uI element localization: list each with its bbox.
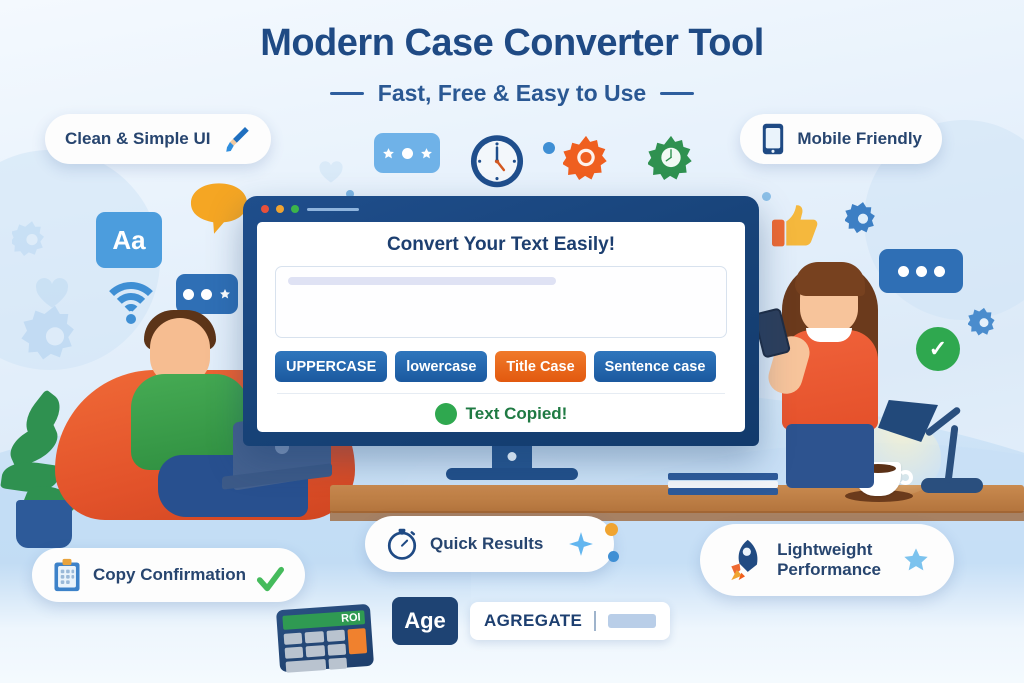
- bubble-dot: [898, 266, 909, 277]
- close-icon[interactable]: [261, 205, 269, 213]
- agregate-input[interactable]: AGREGATE: [470, 602, 670, 640]
- calculator-key: [328, 658, 347, 670]
- speech-bubble-stars-icon: [374, 133, 440, 173]
- green-gear-clock-icon: [648, 134, 694, 180]
- badge-label: Lightweight Performance: [777, 540, 881, 579]
- bubble-dot: [934, 266, 945, 277]
- calculator-key: [306, 645, 325, 657]
- text-input-area[interactable]: [275, 266, 727, 338]
- calculator-key: [327, 644, 346, 656]
- poster-canvas: Modern Case Converter Tool Fast, Free & …: [0, 0, 1024, 683]
- badge-copy-confirmation[interactable]: Copy Confirmation: [32, 548, 305, 602]
- badge-quick-results[interactable]: Quick Results: [365, 516, 614, 572]
- star-icon: [902, 546, 930, 574]
- bubble-dot: [402, 148, 413, 159]
- monitor-power-button[interactable]: [508, 452, 517, 461]
- monitor-stand: [446, 468, 578, 480]
- subtitle-dash-left: [330, 92, 364, 95]
- green-check-icon: ✓: [916, 327, 960, 371]
- thumbs-up-icon: [770, 200, 824, 250]
- woman-fringe: [795, 262, 865, 296]
- badge-label: Mobile Friendly: [797, 129, 922, 149]
- clipboard-icon: [52, 558, 82, 592]
- uppercase-button[interactable]: UPPERCASE: [275, 351, 387, 382]
- blue-gear-icon: [12, 218, 52, 258]
- copy-status-label: Text Copied!: [466, 404, 568, 424]
- wifi-icon: [100, 282, 162, 322]
- page-subtitle-row: Fast, Free & Easy to Use: [0, 80, 1024, 107]
- sparkle-icon: [568, 531, 594, 557]
- chat-dots-icon: [879, 249, 963, 293]
- badge-label: Quick Results: [430, 534, 543, 554]
- calculator-display: ROI: [282, 610, 365, 630]
- heart-icon: [34, 277, 70, 309]
- badge-clean-simple-ui[interactable]: Clean & Simple UI: [45, 114, 271, 164]
- bubble-dot: [201, 289, 212, 300]
- badge-label: Clean & Simple UI: [65, 129, 210, 149]
- badge-label: Copy Confirmation: [93, 565, 246, 585]
- badge-lightweight-performance[interactable]: Lightweight Performance: [700, 524, 954, 596]
- green-check-icon: [255, 566, 285, 594]
- calculator-key: [284, 633, 303, 645]
- blue-gear-icon: [20, 300, 90, 370]
- sparkle-dot-icon: [605, 523, 618, 536]
- alarm-clock-icon: [466, 129, 528, 191]
- plant-pot: [16, 500, 72, 548]
- sparkle-dot-icon: [608, 551, 619, 562]
- subtitle-dash-right: [660, 92, 694, 95]
- aa-text-bubble-icon: Aa: [96, 212, 162, 268]
- chat-dots-star-icon: [176, 274, 238, 314]
- age-chip: Age: [392, 597, 458, 645]
- paintbrush-icon: [221, 124, 251, 154]
- selection-highlight: [608, 614, 656, 628]
- rocket-icon: [724, 538, 766, 582]
- divider: [277, 393, 725, 394]
- orange-gear-icon: [563, 134, 609, 180]
- text-cursor: [594, 611, 595, 631]
- agregate-value: AGREGATE: [484, 611, 582, 631]
- calculator-key-accent: [347, 628, 367, 654]
- minimize-icon[interactable]: [276, 205, 284, 213]
- woman-collar: [806, 328, 852, 342]
- app-heading: Convert Your Text Easily!: [275, 234, 727, 256]
- lowercase-button[interactable]: lowercase: [395, 351, 487, 382]
- bubble-dot: [916, 266, 927, 277]
- calculator-key: [285, 647, 304, 659]
- placeholder-line: [288, 277, 556, 285]
- calculator-icon: ROI: [276, 604, 374, 672]
- badge-mobile-friendly[interactable]: Mobile Friendly: [740, 114, 942, 164]
- case-button-row: UPPERCASE lowercase Title Case Sentence …: [275, 351, 727, 382]
- page-title: Modern Case Converter Tool: [0, 22, 1024, 65]
- blue-gear-icon: [968, 306, 1000, 338]
- heart-icon: [318, 160, 344, 184]
- maximize-icon[interactable]: [291, 205, 299, 213]
- desk-lamp-base: [921, 478, 983, 493]
- title-case-button[interactable]: Title Case: [495, 351, 585, 382]
- green-check-icon: [435, 403, 457, 425]
- calculator-key: [326, 630, 345, 642]
- coffee-cup-handle: [898, 470, 913, 485]
- mobile-phone-icon: [760, 122, 786, 156]
- monitor-frame: Convert Your Text Easily! UPPERCASE lowe…: [243, 196, 759, 446]
- window-title-bar-line: [307, 208, 359, 211]
- stopwatch-icon: [385, 527, 419, 561]
- bubble-dot: [183, 289, 194, 300]
- calculator-keys: [284, 628, 369, 673]
- book-stack: [668, 473, 778, 495]
- sentence-case-button[interactable]: Sentence case: [594, 351, 717, 382]
- woman-jeans: [786, 424, 874, 488]
- app-screen: Convert Your Text Easily! UPPERCASE lowe…: [257, 222, 745, 432]
- background-dot: [543, 142, 555, 154]
- blue-gear-icon: [845, 200, 881, 236]
- window-traffic-lights: [261, 205, 299, 213]
- page-subtitle: Fast, Free & Easy to Use: [378, 80, 646, 107]
- calculator-key: [305, 631, 324, 643]
- copy-status: Text Copied!: [275, 403, 727, 425]
